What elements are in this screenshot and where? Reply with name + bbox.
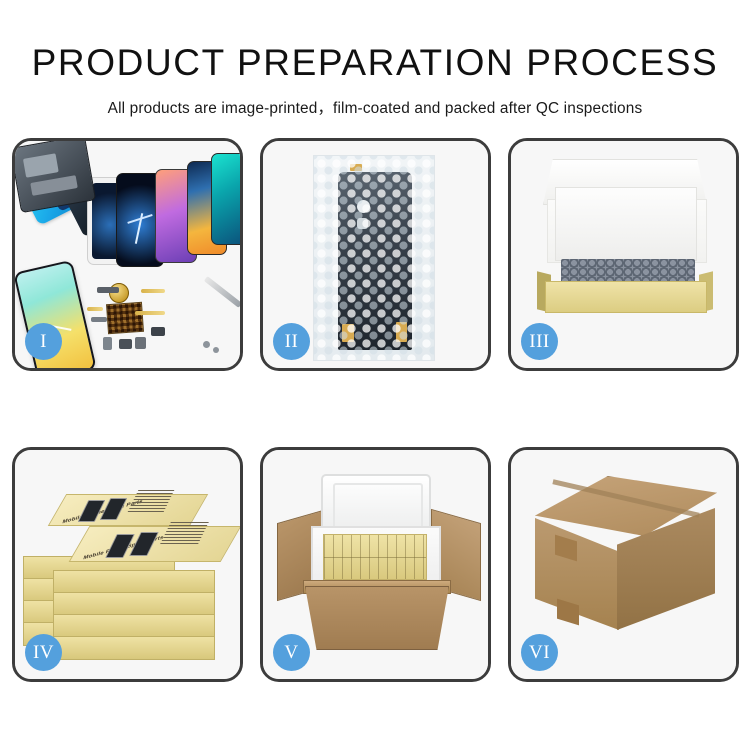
small-part-d bbox=[135, 337, 146, 349]
bubble-wrap-bag bbox=[313, 155, 435, 361]
step-badge-5: V bbox=[273, 634, 310, 671]
stacked-box-f3 bbox=[53, 614, 215, 638]
foam-sheet bbox=[555, 187, 697, 261]
product-preparation-infographic: PRODUCT PREPARATION PROCESS All products… bbox=[0, 0, 750, 750]
screw-b bbox=[213, 347, 219, 353]
flex-cable-b bbox=[135, 311, 165, 315]
stacked-box-f1 bbox=[53, 570, 215, 594]
small-part-b bbox=[103, 337, 112, 350]
small-part-a bbox=[97, 287, 119, 293]
small-part-c bbox=[119, 339, 132, 349]
bubble-texture-back bbox=[314, 156, 434, 360]
phone-logic-board bbox=[12, 138, 96, 213]
step-panel-3: III bbox=[508, 138, 739, 371]
small-part-f bbox=[91, 317, 107, 322]
screw-a bbox=[203, 341, 210, 348]
box-front-panel bbox=[545, 281, 707, 313]
kraft-boxes-inside bbox=[323, 534, 427, 580]
flex-cable-c bbox=[87, 307, 103, 311]
step-panel-6: VI bbox=[508, 447, 739, 682]
steps-grid: I II bbox=[0, 0, 750, 750]
tweezers bbox=[204, 276, 242, 308]
gold-component bbox=[109, 283, 129, 303]
stacked-box-f4 bbox=[53, 636, 215, 660]
phone-teal-gradient bbox=[211, 153, 243, 245]
carton-body bbox=[305, 586, 449, 650]
small-part-e bbox=[151, 327, 165, 336]
step-badge-4: IV bbox=[25, 634, 62, 671]
step-panel-1: I bbox=[12, 138, 243, 371]
stacked-box-f2 bbox=[53, 592, 215, 616]
step-badge-1: I bbox=[25, 323, 62, 360]
flex-cable-a bbox=[141, 289, 165, 293]
step-panel-5: V bbox=[260, 447, 491, 682]
chip-array bbox=[106, 302, 144, 334]
step-panel-2: II bbox=[260, 138, 491, 371]
box-stack: Mobile Phone Spare Parts Mobile Phone Sp… bbox=[23, 468, 237, 664]
step-panel-4: Mobile Phone Spare Parts Mobile Phone Sp… bbox=[12, 447, 243, 682]
step-badge-3: III bbox=[521, 323, 558, 360]
step-badge-6: VI bbox=[521, 634, 558, 671]
step-badge-2: II bbox=[273, 323, 310, 360]
